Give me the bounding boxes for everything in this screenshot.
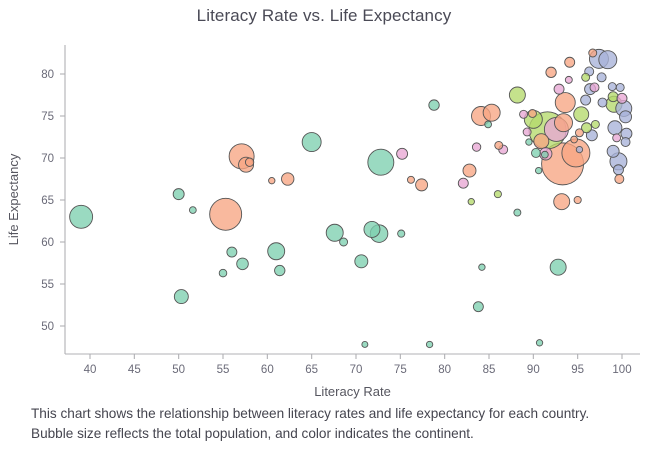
chart-caption: This chart shows the relationship betwee… (31, 404, 611, 444)
x-tick-label: 55 (217, 364, 230, 376)
x-tick-label: 45 (128, 364, 141, 376)
plot-area: 4045505560657075808590951005055606570758… (0, 0, 648, 400)
bubble-point[interactable] (479, 264, 485, 270)
bubble-point[interactable] (599, 51, 617, 69)
bubble-point[interactable] (416, 179, 428, 191)
bubble-point[interactable] (426, 341, 432, 347)
bubble-point[interactable] (485, 121, 492, 128)
bubble-point[interactable] (536, 340, 542, 346)
bubble-point[interactable] (608, 83, 616, 91)
x-tick-label: 50 (172, 364, 185, 376)
x-tick-label: 70 (350, 364, 363, 376)
bubble-point[interactable] (174, 290, 188, 304)
bubble-point[interactable] (608, 121, 622, 135)
y-tick-label: 65 (41, 195, 54, 207)
bubble-point[interactable] (227, 247, 237, 257)
bubble-point[interactable] (210, 198, 242, 230)
bubble-point[interactable] (590, 83, 599, 92)
axes-layer (60, 45, 640, 359)
bubble-point[interactable] (302, 133, 321, 152)
bubble-point[interactable] (473, 302, 483, 312)
bubble-point[interactable] (398, 230, 405, 237)
x-tick-label: 100 (612, 364, 631, 376)
y-tick-label: 75 (41, 111, 54, 123)
y-tick-label: 80 (41, 69, 54, 81)
y-tick-label: 70 (41, 153, 54, 165)
x-tick-label: 40 (84, 364, 97, 376)
x-tick-label: 95 (571, 364, 584, 376)
bubble-point[interactable] (173, 189, 184, 200)
bubble-point[interactable] (340, 238, 348, 246)
bubble-point[interactable] (397, 148, 408, 159)
bubble-point[interactable] (546, 67, 556, 77)
bubble-point[interactable] (613, 134, 621, 142)
bubble-point[interactable] (531, 148, 540, 157)
bubble-point[interactable] (523, 128, 531, 136)
x-axis-title: Literacy Rate (314, 384, 391, 399)
bubble-point[interactable] (535, 167, 541, 173)
bubble-point[interactable] (364, 221, 380, 237)
bubble-point[interactable] (571, 136, 578, 143)
bubble-point[interactable] (237, 258, 249, 270)
bubble-point[interactable] (574, 196, 581, 203)
bubble-point[interactable] (581, 95, 591, 105)
y-tick-label: 55 (41, 279, 54, 291)
bubble-chart: Literacy Rate vs. Life Expectancy 404550… (0, 0, 648, 470)
bubble-point[interactable] (598, 98, 607, 107)
x-tick-label: 80 (438, 364, 451, 376)
bubble-point[interactable] (576, 146, 582, 152)
bubble-point[interactable] (582, 73, 590, 81)
bubble-point[interactable] (468, 198, 474, 204)
bubble-point[interactable] (268, 243, 285, 260)
bubble-point[interactable] (575, 129, 583, 137)
bubble-point[interactable] (555, 93, 575, 113)
bubble-point[interactable] (509, 87, 525, 103)
bubble-point[interactable] (608, 92, 618, 102)
bubble-point[interactable] (528, 109, 536, 117)
bubble-point[interactable] (407, 176, 414, 183)
x-tick-label: 85 (483, 364, 496, 376)
bubble-point[interactable] (597, 73, 606, 82)
bubble-point[interactable] (495, 141, 503, 149)
bubble-point[interactable] (621, 138, 630, 147)
bubble-point[interactable] (620, 111, 632, 123)
bubble-point[interactable] (554, 114, 572, 132)
bubble-point[interactable] (458, 178, 468, 188)
bubble-point[interactable] (269, 177, 275, 183)
bubble-point[interactable] (617, 93, 627, 103)
bubble-point[interactable] (472, 143, 480, 151)
bubble-point[interactable] (589, 49, 597, 57)
bubble-point[interactable] (70, 205, 93, 228)
bubble-point[interactable] (275, 265, 285, 275)
bubble-point[interactable] (219, 269, 227, 277)
y-tick-label: 60 (41, 237, 54, 249)
bubble-point[interactable] (613, 165, 623, 175)
bubble-point[interactable] (514, 209, 521, 216)
bubble-point[interactable] (565, 57, 575, 67)
bubble-point[interactable] (550, 259, 566, 275)
bubble-point[interactable] (355, 255, 368, 268)
bubble-point[interactable] (245, 158, 253, 166)
bubble-point[interactable] (494, 191, 501, 198)
y-tick-label: 50 (41, 321, 54, 333)
bubble-point[interactable] (534, 134, 549, 149)
x-tick-label: 75 (394, 364, 407, 376)
x-tick-label: 60 (261, 364, 274, 376)
bubble-point[interactable] (483, 104, 500, 121)
bubble-point[interactable] (189, 207, 196, 214)
bubble-point[interactable] (282, 173, 294, 185)
bubble-point[interactable] (591, 120, 599, 128)
bubble-point[interactable] (520, 110, 528, 118)
bubble-point[interactable] (554, 194, 570, 210)
bubble-point[interactable] (616, 83, 624, 91)
y-axis-title: Life Expectancy (6, 153, 21, 245)
bubble-point[interactable] (574, 107, 589, 122)
bubbles-layer (70, 49, 632, 348)
x-tick-label: 90 (527, 364, 540, 376)
bubble-point[interactable] (615, 175, 624, 184)
bubble-point[interactable] (526, 139, 532, 145)
bubble-point[interactable] (607, 145, 619, 157)
bubble-point[interactable] (463, 164, 476, 177)
bubble-point[interactable] (554, 84, 564, 94)
bubble-point[interactable] (562, 139, 590, 167)
bubble-point[interactable] (541, 151, 548, 158)
bubble-point[interactable] (565, 76, 572, 83)
x-tick-label: 65 (305, 364, 318, 376)
bubble-point[interactable] (368, 149, 394, 175)
bubble-point[interactable] (362, 341, 368, 347)
bubble-point[interactable] (429, 100, 439, 110)
